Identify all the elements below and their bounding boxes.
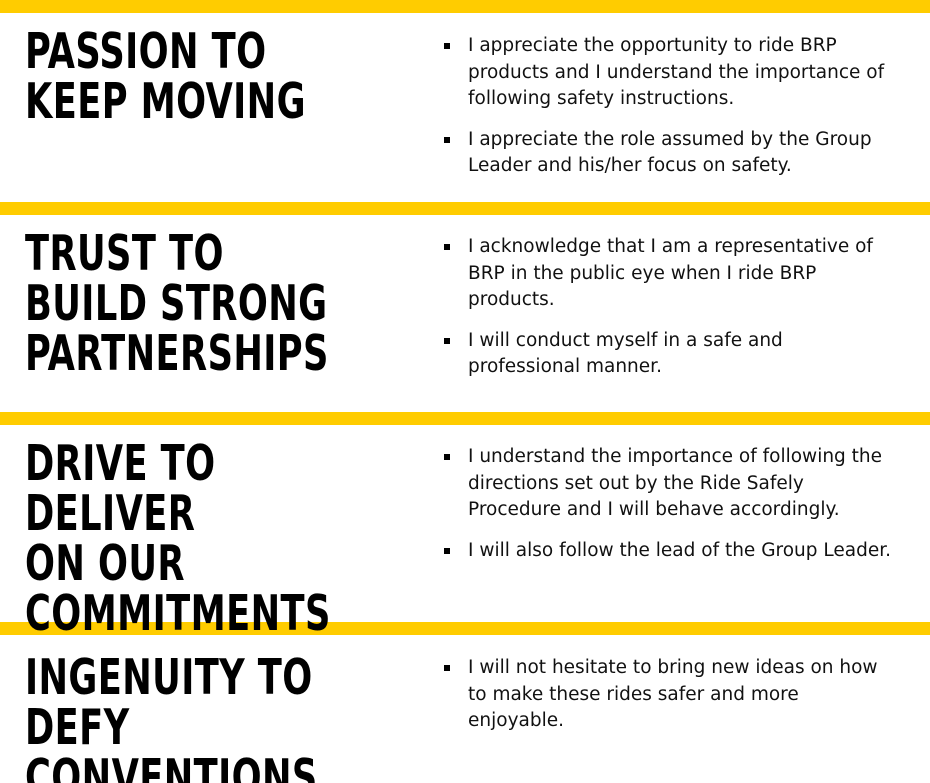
bullets-column: I acknowledge that I am a representative…: [438, 215, 930, 381]
list-item-text: I appreciate the role assumed by the Gro…: [468, 129, 872, 177]
divider-rule-top: [0, 0, 930, 13]
square-bullet-icon: [444, 548, 450, 554]
list-item: I appreciate the role assumed by the Gro…: [438, 127, 893, 180]
heading-column: INGENUITY TO DEFY CONVENTIONS: [0, 635, 438, 783]
bullets-column: I understand the importance of following…: [438, 425, 930, 564]
heading-column: PASSION TO KEEP MOVING: [0, 13, 438, 127]
heading-column: TRUST TO BUILD STRONG PARTNERSHIPS: [0, 215, 438, 379]
square-bullet-icon: [444, 338, 450, 344]
list-item-text: I will also follow the lead of the Group…: [468, 540, 891, 561]
list-item-text: I will conduct myself in a safe and prof…: [468, 330, 783, 378]
value-section-trust: TRUST TO BUILD STRONG PARTNERSHIPS I ack…: [0, 215, 930, 412]
bullets-column: I appreciate the opportunity to ride BRP…: [438, 13, 930, 180]
list-item-text: I acknowledge that I am a representative…: [468, 236, 873, 310]
square-bullet-icon: [444, 665, 450, 671]
commitment-list: I will not hesitate to bring new ideas o…: [438, 655, 910, 735]
list-item: I understand the importance of following…: [438, 444, 893, 524]
commitment-list: I appreciate the opportunity to ride BRP…: [438, 33, 910, 180]
list-item: I will conduct myself in a safe and prof…: [438, 328, 893, 381]
list-item-text: I understand the importance of following…: [468, 446, 882, 520]
list-item: I appreciate the opportunity to ride BRP…: [438, 33, 893, 113]
value-section-ingenuity: INGENUITY TO DEFY CONVENTIONS I will not…: [0, 635, 930, 783]
square-bullet-icon: [444, 137, 450, 143]
value-section-passion: PASSION TO KEEP MOVING I appreciate the …: [0, 13, 930, 202]
section-heading: PASSION TO KEEP MOVING: [25, 27, 355, 127]
heading-column: DRIVE TO DELIVER ON OUR COMMITMENTS: [0, 425, 438, 639]
commitment-list: I acknowledge that I am a representative…: [438, 234, 910, 381]
list-item-text: I appreciate the opportunity to ride BRP…: [468, 35, 884, 109]
square-bullet-icon: [444, 454, 450, 460]
square-bullet-icon: [444, 43, 450, 49]
bullets-column: I will not hesitate to bring new ideas o…: [438, 635, 930, 735]
section-heading: TRUST TO BUILD STRONG PARTNERSHIPS: [25, 229, 355, 379]
divider-rule-3: [0, 412, 930, 425]
slide-canvas: PASSION TO KEEP MOVING I appreciate the …: [0, 0, 930, 783]
section-heading: INGENUITY TO DEFY CONVENTIONS: [25, 653, 355, 783]
section-heading: DRIVE TO DELIVER ON OUR COMMITMENTS: [25, 439, 355, 639]
square-bullet-icon: [444, 244, 450, 250]
value-section-drive: DRIVE TO DELIVER ON OUR COMMITMENTS I un…: [0, 425, 930, 622]
list-item: I will also follow the lead of the Group…: [438, 538, 893, 565]
list-item: I acknowledge that I am a representative…: [438, 234, 893, 314]
list-item: I will not hesitate to bring new ideas o…: [438, 655, 893, 735]
commitment-list: I understand the importance of following…: [438, 444, 910, 564]
list-item-text: I will not hesitate to bring new ideas o…: [468, 657, 878, 731]
divider-rule-2: [0, 202, 930, 215]
